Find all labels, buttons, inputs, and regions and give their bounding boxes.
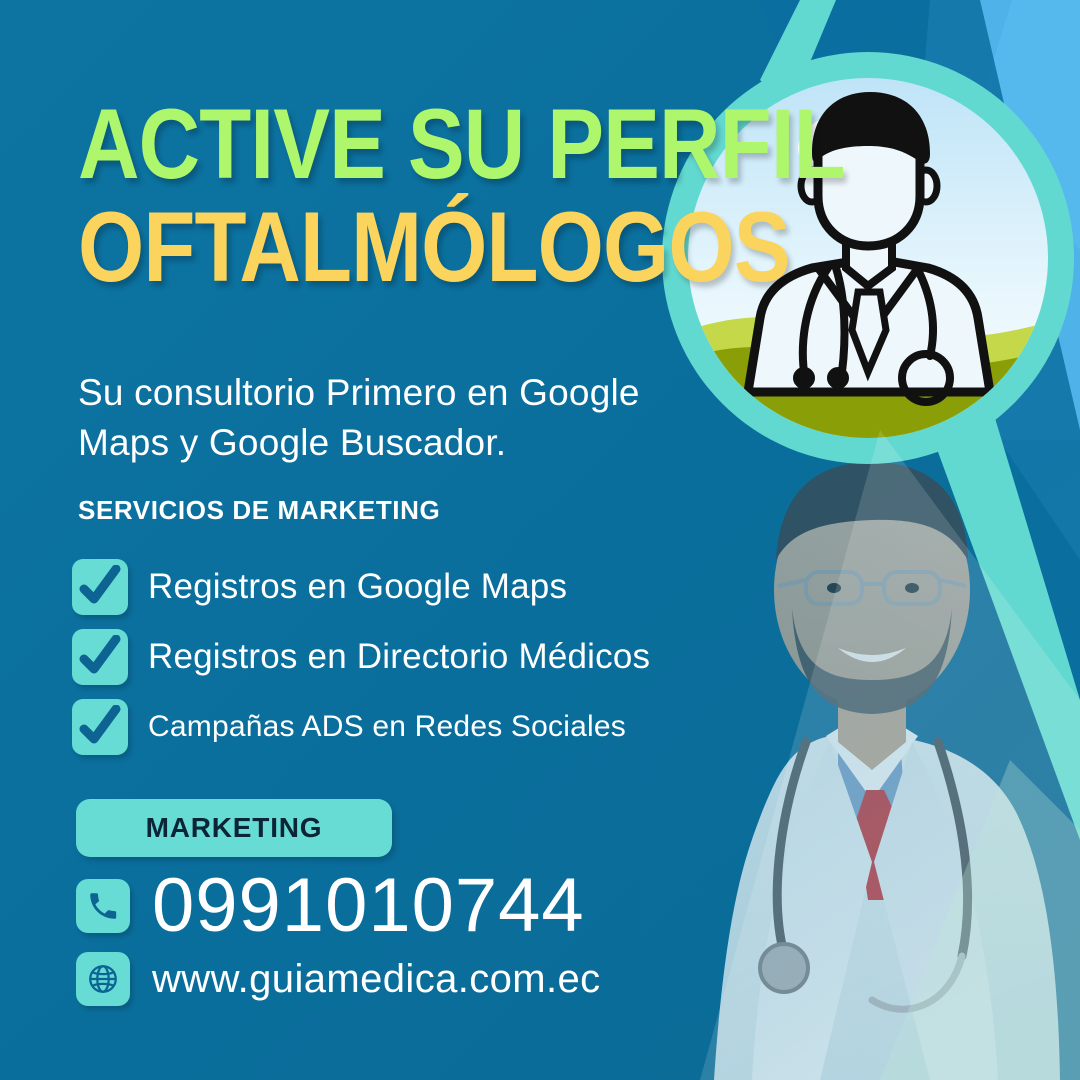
poster-canvas: ACTIVE SU PERFIL OFTALMÓLOGOS Su consult… [0, 0, 1080, 1080]
check-icon [72, 629, 128, 685]
marketing-badge[interactable]: MARKETING [76, 799, 392, 857]
content-column: ACTIVE SU PERFIL OFTALMÓLOGOS Su consult… [0, 0, 720, 1080]
checklist-item: Registros en Directorio Médicos [72, 628, 732, 686]
phone-glyph [86, 889, 120, 923]
checklist-item-label: Registros en Google Maps [148, 567, 567, 607]
phone-icon [76, 879, 130, 933]
check-icon [72, 559, 128, 615]
globe-glyph [86, 962, 120, 996]
headline-line-2: OFTALMÓLOGOS [78, 199, 611, 294]
check-glyph [79, 635, 121, 679]
headline-block: ACTIVE SU PERFIL OFTALMÓLOGOS [78, 96, 698, 294]
check-icon [72, 699, 128, 755]
subtitle-text: Su consultorio Primero en Google Maps y … [78, 368, 708, 469]
phone-number: 0991010744 [152, 868, 585, 944]
services-checklist: Registros en Google Maps Registros en Di… [72, 558, 732, 768]
marketing-badge-label: MARKETING [146, 812, 323, 844]
checklist-item: Registros en Google Maps [72, 558, 732, 616]
checklist-item-label: Campañas ADS en Redes Sociales [148, 710, 626, 744]
phone-row[interactable]: 0991010744 [76, 868, 716, 944]
section-label: SERVICIOS DE MARKETING [78, 495, 440, 526]
check-glyph [79, 565, 121, 609]
check-glyph [79, 705, 121, 749]
contact-block: 0991010744 www.guiamedica.com.ec [76, 868, 716, 1014]
website-row[interactable]: www.guiamedica.com.ec [76, 952, 716, 1006]
checklist-item-label: Registros en Directorio Médicos [148, 637, 650, 677]
website-url: www.guiamedica.com.ec [152, 957, 601, 1002]
globe-icon [76, 952, 130, 1006]
headline-line-1: ACTIVE SU PERFIL [78, 96, 611, 191]
checklist-item: Campañas ADS en Redes Sociales [72, 698, 732, 756]
